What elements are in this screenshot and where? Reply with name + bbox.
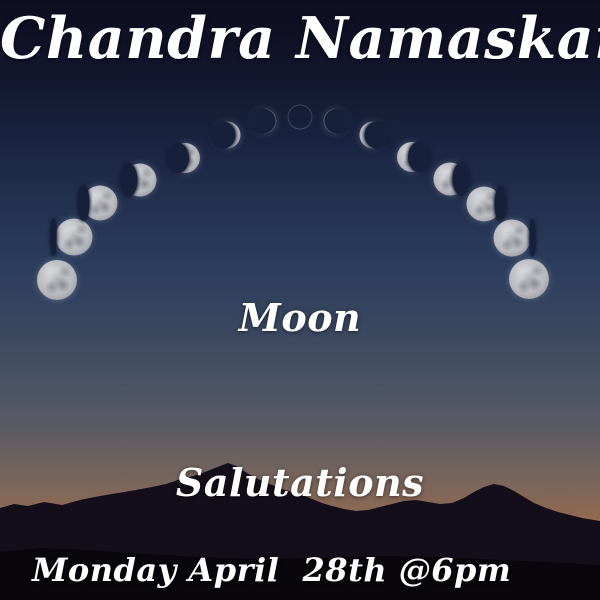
waxing-crescent-right-1 [324,109,349,134]
new-moon-top [288,105,313,130]
center-headline: Moon Salutations [0,180,600,600]
event-datetime: Monday April 28th @6pm [32,553,511,588]
moon-shadow [210,121,236,149]
headline-line-1: Moon [0,290,600,345]
moon-shadow [166,143,189,174]
moon-shadow [324,108,352,134]
headline-line-2: Salutations [0,455,600,510]
moon-shadow [364,121,390,149]
waning-crescent-left-2 [214,122,241,149]
waning-crescent-left-3 [252,109,277,134]
poster-canvas: Chandra Namaskar Moon Salutations Monday… [0,0,600,600]
moon-disc [288,105,313,130]
waning-crescent-left-1 [170,143,200,173]
moon-shadow [408,142,431,173]
page-title: Chandra Namaskar [0,6,600,72]
waxing-crescent-right-2 [360,122,387,149]
waxing-crescent-right-3 [397,142,427,172]
